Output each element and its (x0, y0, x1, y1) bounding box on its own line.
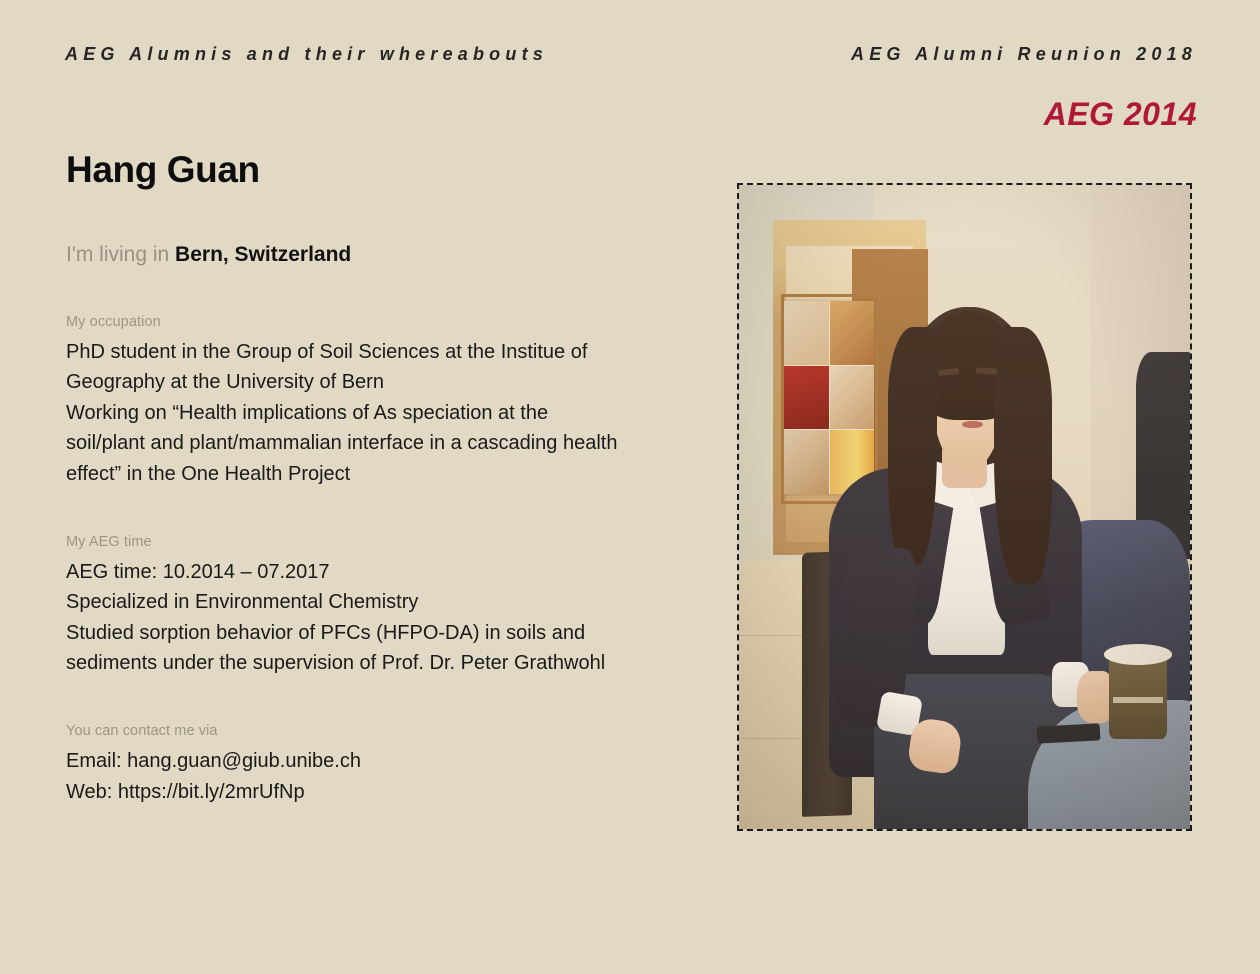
header-left-title: AEG Alumnis and their whereabouts (65, 44, 548, 65)
living-label: I'm living in (66, 243, 175, 266)
profile-text-column: Hang Guan I'm living in Bern, Switzerlan… (66, 150, 706, 807)
occupation-line: PhD student in the Group of Soil Science… (66, 337, 706, 367)
living-location-line: I'm living in Bern, Switzerland (66, 242, 706, 267)
aeg-time-line: AEG time: 10.2014 – 07.2017 (66, 557, 706, 587)
section-body-occupation: PhD student in the Group of Soil Science… (66, 337, 706, 489)
photo-subject-eye-left (941, 382, 956, 388)
occupation-line: effect” in the One Health Project (66, 459, 706, 489)
photo-subject-eyebrow-right (976, 367, 997, 374)
photo-subject-hair-right (994, 327, 1053, 585)
aeg-time-line: Studied sorption behavior of PFCs (HFPO-… (66, 618, 706, 648)
living-value: Bern, Switzerland (175, 243, 351, 266)
occupation-line: Working on “Health implications of As sp… (66, 398, 706, 428)
photo-coffee-cup-band (1113, 697, 1163, 703)
page-title: Hang Guan (66, 150, 706, 190)
section-occupation: My occupation PhD student in the Group o… (66, 313, 706, 489)
profile-photo-frame (737, 183, 1192, 831)
slide-root: AEG Alumnis and their whereabouts AEG Al… (0, 0, 1260, 974)
photo-subject-hand-right (1077, 671, 1113, 723)
aeg-time-line: Specialized in Environmental Chemistry (66, 587, 706, 617)
photo-poster-frame (781, 294, 878, 503)
profile-photo (739, 185, 1190, 829)
section-label-contact: You can contact me via (66, 722, 706, 741)
header-right-title: AEG Alumni Reunion 2018 (851, 44, 1197, 65)
section-body-contact: Email: hang.guan@giub.unibe.ch Web: http… (66, 746, 706, 807)
section-label-aeg-time: My AEG time (66, 533, 706, 552)
header-year-badge: AEG 2014 (1044, 96, 1197, 133)
section-aeg-time: My AEG time AEG time: 10.2014 – 07.2017 … (66, 533, 706, 678)
aeg-time-line: sediments under the supervision of Prof.… (66, 648, 706, 678)
photo-subject-eye-right (979, 381, 994, 387)
photo-coffee-cup-rim (1104, 644, 1172, 665)
section-label-occupation: My occupation (66, 313, 706, 332)
photo-subject-hair-left (888, 327, 938, 565)
contact-web-line[interactable]: Web: https://bit.ly/2mrUfNp (66, 777, 706, 807)
section-body-aeg-time: AEG time: 10.2014 – 07.2017 Specialized … (66, 557, 706, 679)
occupation-line: soil/plant and plant/mammalian interface… (66, 428, 706, 458)
occupation-line: Geography at the University of Bern (66, 367, 706, 397)
contact-email-line[interactable]: Email: hang.guan@giub.unibe.ch (66, 746, 706, 776)
section-contact: You can contact me via Email: hang.guan@… (66, 722, 706, 807)
